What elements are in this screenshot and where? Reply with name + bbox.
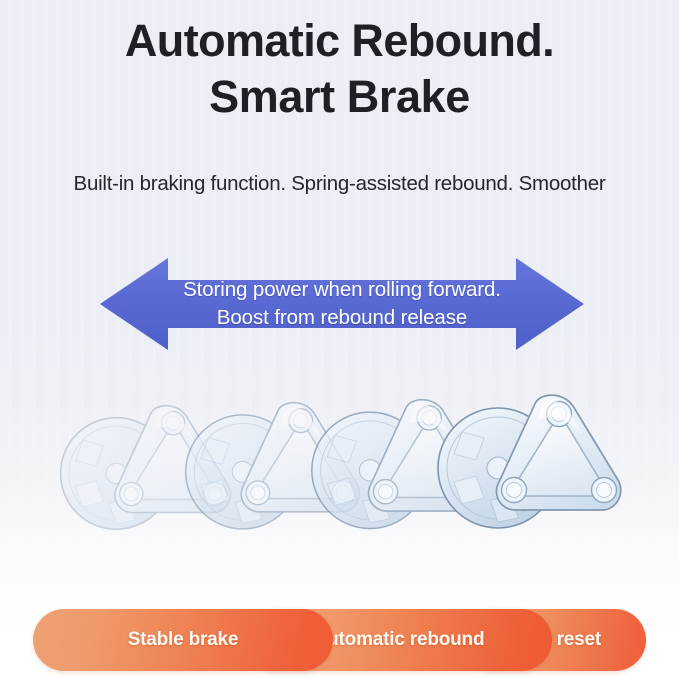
promo-poster: Automatic Rebound. Smart Brake Built-in … bbox=[0, 0, 679, 679]
feature-pill-label: Automatic rebound bbox=[314, 629, 485, 651]
product-image-row bbox=[0, 376, 679, 576]
subtitle-text: Built-in braking function. Spring-assist… bbox=[0, 172, 679, 196]
wheel-main bbox=[432, 376, 632, 546]
arrow-banner: Storing power when rolling forward. Boos… bbox=[97, 252, 587, 356]
double-headed-arrow-icon bbox=[97, 252, 587, 356]
heading-block: Automatic Rebound. Smart Brake bbox=[0, 16, 679, 123]
caster-wheel-brake-icon bbox=[432, 376, 632, 546]
headline-secondary: Smart Brake bbox=[0, 72, 679, 122]
feature-pill-stable-brake[interactable]: Stable brake bbox=[33, 609, 333, 671]
feature-pill-label: Stable brake bbox=[128, 629, 239, 651]
headline-primary: Automatic Rebound. bbox=[0, 16, 679, 66]
feature-pill-bar: Easy reset Automatic rebound Stable brak… bbox=[0, 609, 679, 679]
